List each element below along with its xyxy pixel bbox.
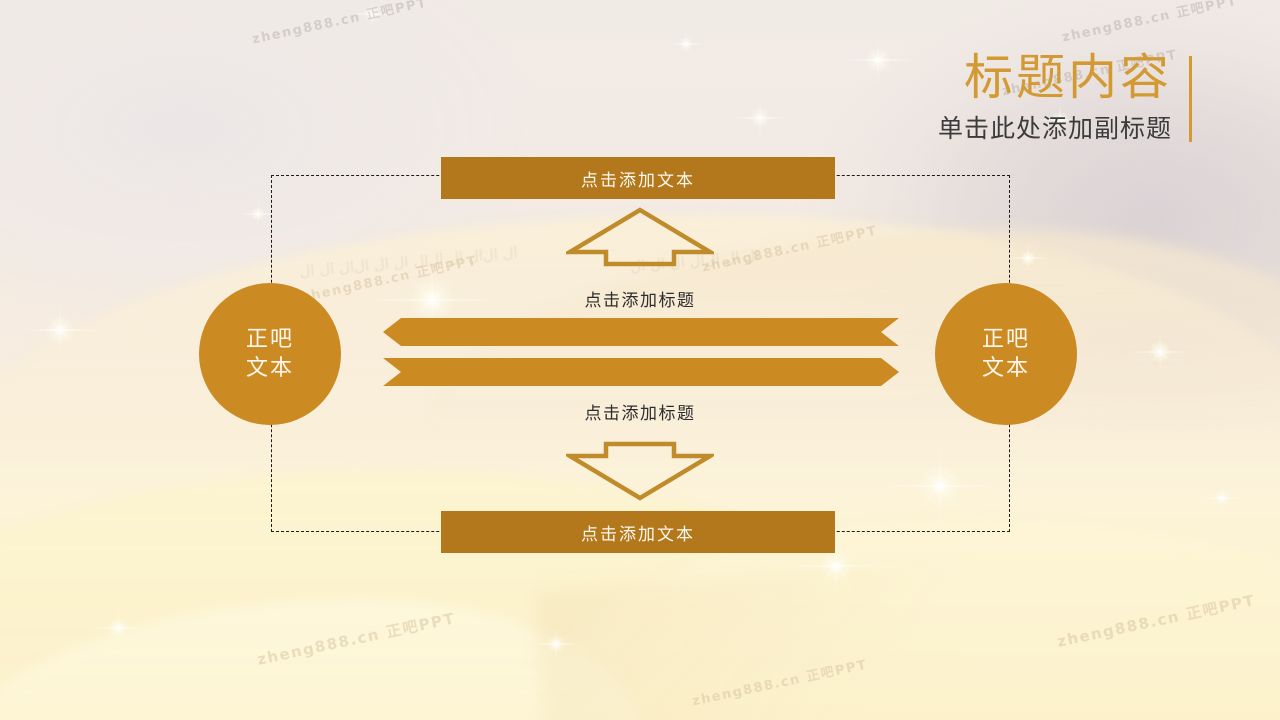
chevron-right-bar-icon[interactable] <box>383 358 899 391</box>
title-accent-rule <box>1189 56 1192 142</box>
top-text-bar-label: 点击添加文本 <box>581 166 695 191</box>
bottom-text-bar[interactable]: 点击添加文本 <box>441 511 835 553</box>
page-title: 标题内容 <box>938 52 1172 103</box>
up-arrow-caption: 点击添加标题 <box>490 286 790 311</box>
page-subtitle: 单击此处添加副标题 <box>938 109 1172 145</box>
right-circle-line-1: 正吧 <box>982 325 1030 354</box>
left-circle-line-1: 正吧 <box>246 325 294 354</box>
left-circle-line-2: 文本 <box>246 354 294 383</box>
arrow-down-icon[interactable] <box>566 440 714 507</box>
arrow-up-icon[interactable] <box>566 206 714 273</box>
slide-canvas: ال ال‌ال ال ال‌ال ال ال ال‌ال ال ال ال ا… <box>0 0 1280 720</box>
chevron-left-bar-icon[interactable] <box>383 318 899 351</box>
bottom-text-bar-label: 点击添加文本 <box>581 520 695 545</box>
title-block: 标题内容 单击此处添加副标题 <box>938 52 1172 145</box>
down-arrow-caption: 点击添加标题 <box>490 399 790 424</box>
top-text-bar[interactable]: 点击添加文本 <box>441 157 835 199</box>
right-circle-line-2: 文本 <box>982 354 1030 383</box>
left-circle-node[interactable]: 正吧 文本 <box>199 283 341 425</box>
right-circle-node[interactable]: 正吧 文本 <box>935 283 1077 425</box>
